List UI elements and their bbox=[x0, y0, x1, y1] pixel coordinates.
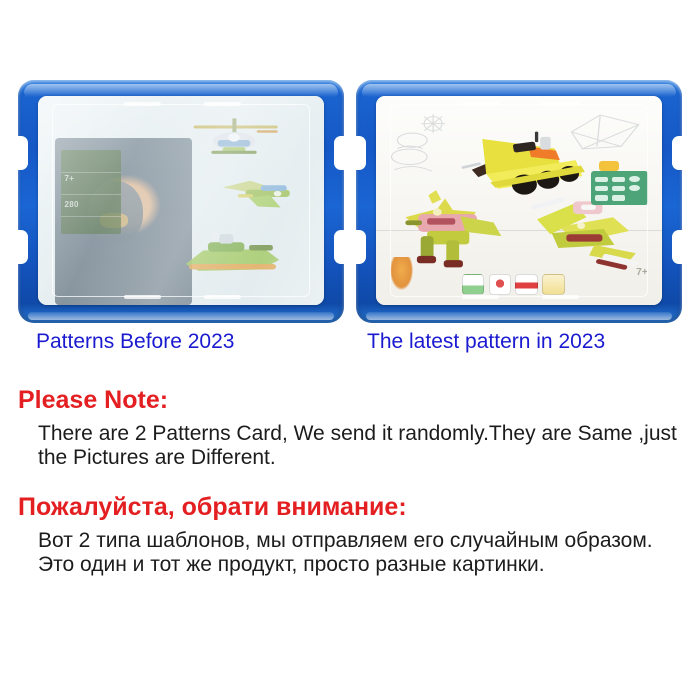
badge-icon-vehicle bbox=[462, 274, 485, 295]
yellow-sticker bbox=[599, 161, 619, 171]
lid-tab bbox=[124, 102, 161, 106]
badge-icon-gear bbox=[489, 274, 512, 295]
badge-icon-brick bbox=[542, 274, 565, 295]
model-helicopter bbox=[187, 117, 284, 171]
green-info-label: 7+ 280 bbox=[61, 150, 121, 234]
note-body-ru: Вот 2 типа шаблонов, мы отправляем его с… bbox=[0, 529, 700, 578]
product-figure-old: 7+ 280 bbox=[18, 80, 344, 323]
model-mech-robot bbox=[399, 188, 508, 272]
pattern-card-new: 7+ bbox=[376, 96, 662, 305]
lid-tab bbox=[542, 295, 579, 299]
label-pieces-text: 280 bbox=[64, 200, 78, 209]
case-latch-notch bbox=[355, 136, 366, 170]
note-body-en: There are 2 Patterns Card, We send it ra… bbox=[0, 422, 700, 471]
product-image-row: 7+ 280 bbox=[0, 0, 700, 325]
spacer bbox=[0, 470, 700, 492]
lid-tab bbox=[204, 102, 241, 106]
badge-icon-battery bbox=[515, 274, 538, 295]
case-window-right: 7+ bbox=[376, 96, 662, 305]
pattern-card-old: 7+ 280 bbox=[38, 96, 324, 305]
feature-badge-row bbox=[462, 272, 565, 297]
note-heading-ru: Пожалуйста, обрати внимание: bbox=[0, 492, 700, 523]
lid-tab bbox=[542, 102, 579, 106]
case-window-left: 7+ 280 bbox=[38, 96, 324, 305]
sketch-artwork-left bbox=[387, 113, 461, 184]
product-figure-new: 7+ bbox=[356, 80, 682, 323]
caption-old-pattern: Patterns Before 2023 bbox=[36, 330, 234, 354]
caption-new-pattern: The latest pattern in 2023 bbox=[367, 330, 605, 354]
case-latch-notch bbox=[17, 136, 28, 170]
note-block: Please Note: There are 2 Patterns Card, … bbox=[0, 385, 700, 577]
note-heading-en: Please Note: bbox=[0, 385, 700, 416]
lid-tab bbox=[462, 295, 499, 299]
lid-tab bbox=[204, 295, 241, 299]
model-spacecraft bbox=[525, 194, 645, 273]
green-info-chip bbox=[591, 171, 648, 204]
label-age-text: 7+ bbox=[64, 174, 74, 183]
model-boat bbox=[181, 226, 284, 280]
mascot-icon bbox=[390, 257, 413, 290]
lid-tab bbox=[124, 295, 161, 299]
case-latch-notch bbox=[355, 230, 366, 264]
model-plane bbox=[215, 173, 307, 223]
lid-tab bbox=[462, 102, 499, 106]
case-latch-notch bbox=[334, 136, 345, 170]
case-latch-notch bbox=[17, 230, 28, 264]
case-latch-notch bbox=[672, 136, 683, 170]
case-latch-notch bbox=[334, 230, 345, 264]
age-marking: 7+ bbox=[636, 267, 647, 278]
case-latch-notch bbox=[672, 230, 683, 264]
